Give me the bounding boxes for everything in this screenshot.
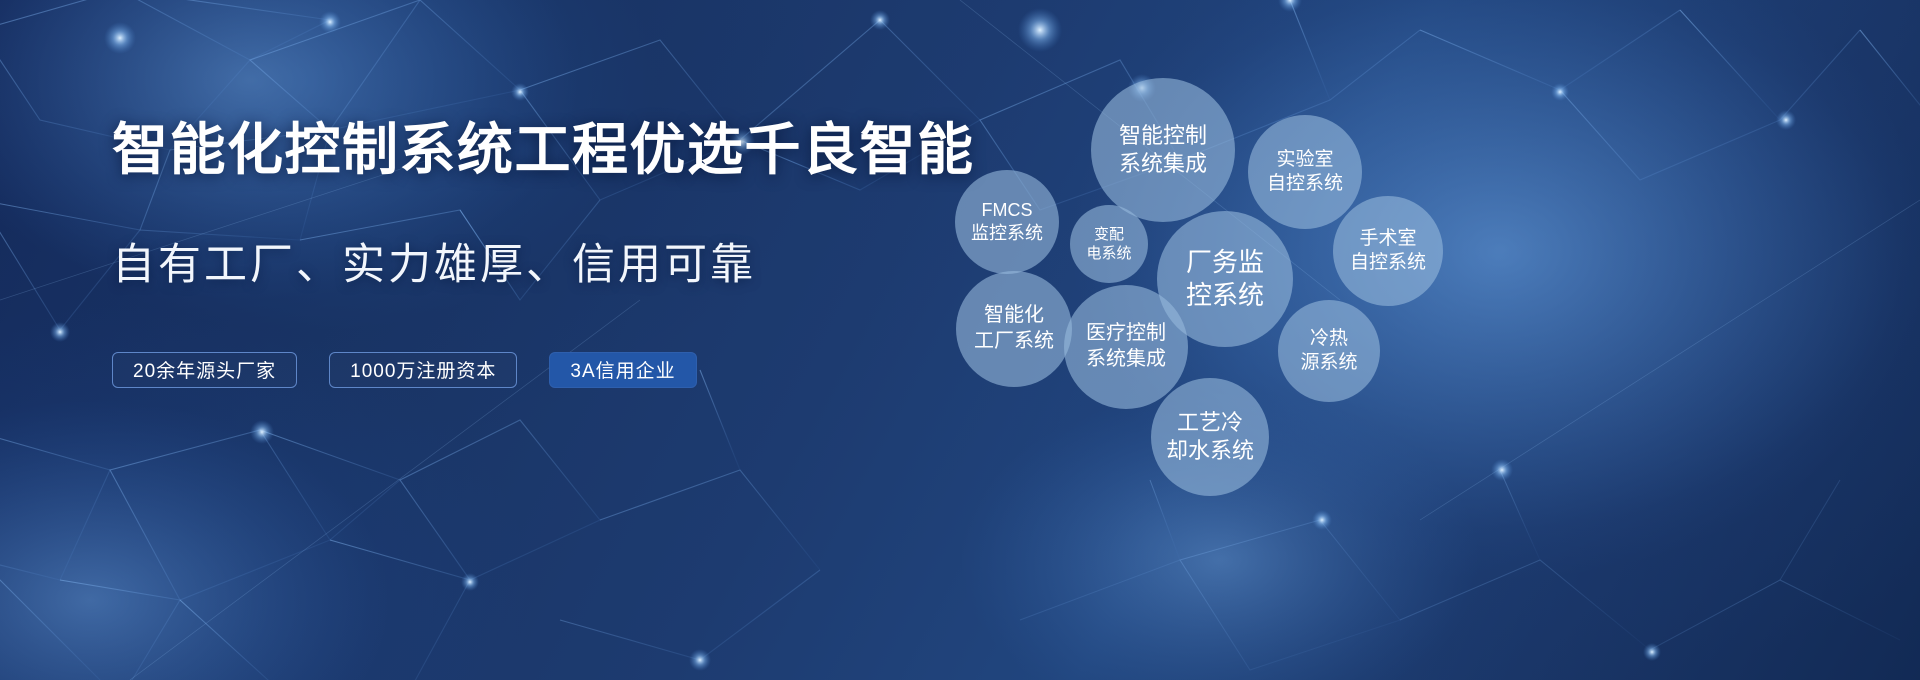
badge-group: 20余年源头厂家 1000万注册资本 3A信用企业 (112, 352, 942, 388)
bubble-medical-control[interactable]: 医疗控制 系统集成 (1064, 285, 1188, 409)
hero-banner: 智能化控制系统工程优选千良智能 自有工厂、实力雄厚、信用可靠 20余年源头厂家 … (0, 0, 1920, 680)
bubble-medical-control-label: 医疗控制 系统集成 (1086, 321, 1166, 372)
bubble-power-dist-label: 变配 电系统 (1086, 225, 1131, 263)
bubble-lab-auto-label: 实验室 自控系统 (1267, 148, 1343, 197)
badge-credit-rating[interactable]: 3A信用企业 (549, 352, 696, 388)
bubble-operating-room[interactable]: 手术室 自控系统 (1333, 196, 1443, 306)
bubble-smart-factory-label: 智能化 工厂系统 (974, 303, 1054, 354)
hero-copy: 智能化控制系统工程优选千良智能 自有工厂、实力雄厚、信用可靠 20余年源头厂家 … (112, 118, 942, 388)
bubble-smart-factory[interactable]: 智能化 工厂系统 (956, 271, 1072, 387)
badge-capital-label: 1000万注册资本 (350, 356, 496, 383)
service-bubble-cluster: FMCS 监控系统智能控制 系统集成实验室 自控系统变配 电系统手术室 自控系统… (945, 0, 1745, 680)
bubble-cold-heat[interactable]: 冷热 源系统 (1278, 300, 1380, 402)
bubble-smart-control[interactable]: 智能控制 系统集成 (1091, 78, 1235, 222)
bubble-fmcs[interactable]: FMCS 监控系统 (955, 170, 1059, 274)
bubble-plant-monitor-label: 厂务监 控系统 (1186, 246, 1264, 313)
page-title: 智能化控制系统工程优选千良智能 (112, 118, 942, 182)
bubble-process-cooling[interactable]: 工艺冷 却水系统 (1151, 378, 1269, 496)
bubble-power-dist[interactable]: 变配 电系统 (1070, 205, 1148, 283)
badge-years-label: 20余年源头厂家 (133, 356, 276, 383)
bubble-process-cooling-label: 工艺冷 却水系统 (1166, 409, 1254, 465)
bubble-operating-room-label: 手术室 自控系统 (1350, 227, 1426, 276)
badge-credit-rating-label: 3A信用企业 (570, 356, 675, 383)
bubble-cold-heat-label: 冷热 源系统 (1300, 327, 1357, 376)
bubble-lab-auto[interactable]: 实验室 自控系统 (1248, 115, 1362, 229)
hero-subtitle: 自有工厂、实力雄厚、信用可靠 (112, 240, 942, 292)
badge-years[interactable]: 20余年源头厂家 (112, 352, 297, 388)
bubble-fmcs-label: FMCS 监控系统 (971, 199, 1043, 245)
badge-capital[interactable]: 1000万注册资本 (329, 352, 517, 388)
bubble-smart-control-label: 智能控制 系统集成 (1119, 122, 1207, 178)
